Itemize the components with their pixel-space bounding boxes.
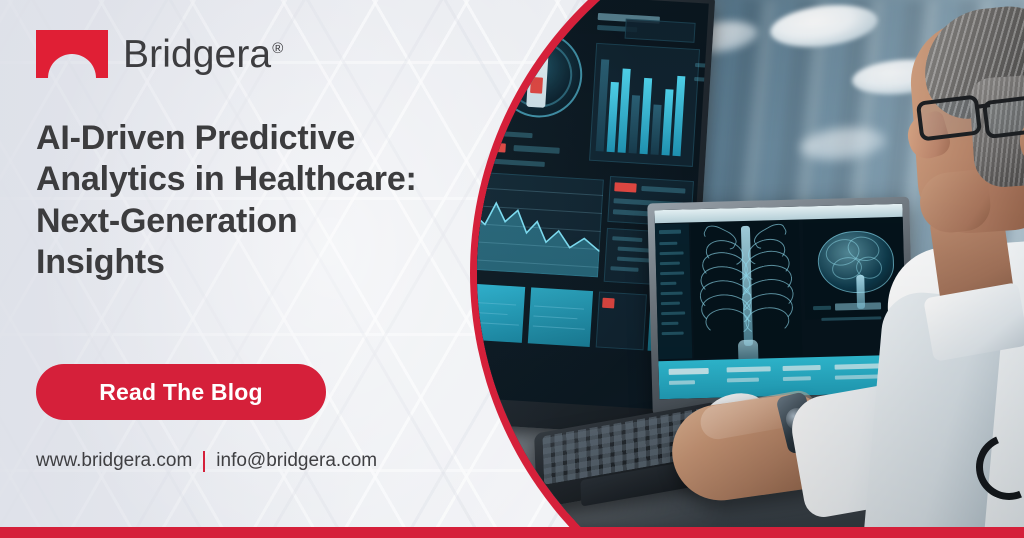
alert-tag [477,142,505,153]
vial-sample [530,77,543,94]
bridgera-arch-mark-icon [36,30,108,78]
brand-logo[interactable]: Bridgera® [36,30,283,78]
website-link[interactable]: www.bridgera.com [36,450,192,472]
page-title: AI-Driven Predictive Analytics in Health… [36,118,466,284]
doctor-profile [880,0,1024,538]
read-the-blog-button[interactable]: Read The Blog [36,364,326,420]
eyeglasses-lens-back [982,95,1024,139]
xray-screen [654,204,907,399]
bottom-accent-bar [0,527,1024,538]
blog-promo-banner: Bridgera® AI-Driven Predictive Analytics… [0,0,1024,538]
headline-line-1: AI-Driven Predictive [36,118,466,159]
content-column: Bridgera® AI-Driven Predictive Analytics… [0,0,470,538]
photo-red-arc-border [470,0,1024,538]
list-row [477,158,545,167]
contact-bar: www.bridgera.com info@bridgera.com [36,450,377,472]
medical-xray-monitor [647,197,914,416]
list-row [513,145,559,154]
xray-sidebar [655,223,693,359]
photo-ellipse-clip [477,0,1024,538]
alert-tag [614,182,637,192]
email-link[interactable]: info@bridgera.com [216,450,377,472]
list-row [477,130,533,138]
vial-icon [526,45,549,108]
headline-line-2: Analytics in Healthcare: [36,159,466,200]
headline-line-4: Insights [36,242,466,283]
scan-label [835,302,881,310]
chest-xray-image [691,221,802,359]
hero-photo [477,0,1024,538]
brand-wordmark: Bridgera® [123,35,283,74]
alert-tag [602,298,615,309]
search-widget [625,19,696,43]
brand-name: Bridgera [123,33,271,76]
contact-separator [203,451,205,472]
headline-line-3: Next-Generation [36,201,466,242]
registered-trademark: ® [272,40,283,57]
eyeglasses-lens-front [916,94,982,141]
line-chart-icon [477,171,604,277]
